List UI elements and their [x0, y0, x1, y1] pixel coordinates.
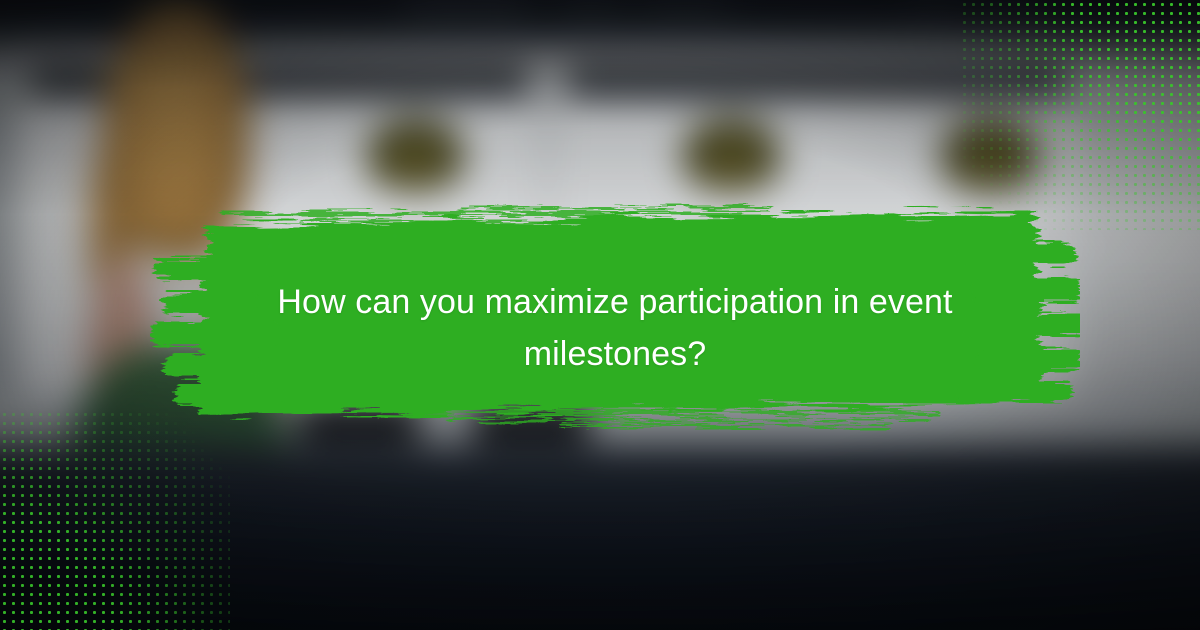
background-avatar — [683, 117, 781, 191]
background-nav-item — [987, 0, 1061, 10]
background-logo — [404, 0, 529, 11]
background-nav-item — [907, 0, 966, 10]
background-lower-section — [0, 445, 1200, 630]
background-avatar — [941, 117, 1039, 191]
background-card-header — [566, 64, 1068, 96]
background-left-rail — [0, 40, 15, 390]
page-title: How can you maximize participation in ev… — [195, 276, 1035, 380]
background-nav-item — [558, 0, 624, 10]
screenshot-stage: How can you maximize participation in ev… — [0, 0, 1200, 630]
background-nav-item — [642, 0, 729, 10]
background-avatar — [367, 117, 465, 191]
